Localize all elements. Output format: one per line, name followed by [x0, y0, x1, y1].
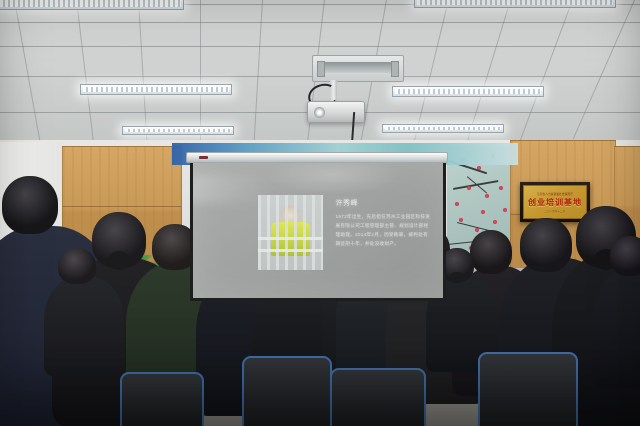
ceiling-grid-line-v [572, 0, 634, 139]
ceiling-grid-line-h [0, 46, 640, 47]
plaque-top-line: 江苏省人力资源和社会保障厅 [537, 192, 573, 196]
ceiling-air-conditioner [312, 55, 404, 82]
conference-room-photo: 江苏省人力资源和社会保障厅 创业培训基地 二〇一四年十二月 许秀峰 1972年出… [0, 0, 640, 426]
wall-plaque-frame: 江苏省人力资源和社会保障厅 创业培训基地 二〇一四年十二月 [520, 182, 590, 222]
ceiling-mounted-projector [307, 101, 365, 123]
mural-blossom [455, 202, 459, 206]
mural-blossom [477, 166, 481, 170]
audience-hair-bun [450, 272, 464, 284]
roller-label [199, 156, 208, 159]
audience-person-head [470, 230, 512, 274]
audience-chair-back[interactable] [120, 372, 204, 426]
mural-blossom [481, 210, 485, 214]
plaque-bottom-line: 二〇一四年十二月 [545, 209, 566, 213]
audience-person-head [58, 248, 96, 284]
ceiling-light-fixture [414, 0, 616, 8]
projection-screen: 许秀峰 1972年出生，先后担任苏州工业园区科技发展有限公司工程管理部主管、规划… [190, 160, 446, 301]
mural-blossom [485, 194, 489, 198]
screen-glare-secondary [263, 160, 401, 195]
mural-blossom [475, 228, 479, 232]
slide-inmate-photo [258, 195, 323, 269]
cell-rail-lower [258, 249, 323, 252]
mural-blossom [493, 220, 497, 224]
wall-plaque-face: 江苏省人力资源和社会保障厅 创业培训基地 二〇一四年十二月 [523, 185, 587, 219]
ceiling-light-fixture [80, 84, 232, 95]
audience-person-head [520, 218, 572, 272]
audience-person-head [2, 176, 58, 234]
cell-rail-upper [258, 237, 323, 240]
ceiling-light-fixture [392, 86, 544, 97]
audience-chair-back[interactable] [242, 356, 332, 426]
ceiling-light-fixture [0, 0, 184, 10]
audience-hair-bun [108, 251, 130, 269]
audience-chair-back[interactable] [330, 368, 426, 426]
plaque-main-text: 创业培训基地 [528, 197, 582, 208]
screen-roller-housing[interactable] [186, 152, 448, 163]
audience-person-head [610, 236, 640, 276]
ceiling-grid-line-h [0, 22, 640, 23]
slide-body-text: 1972年出生，先后担任苏州工业园区科技发展有限公司工程管理部主管、规划设计部经… [336, 212, 431, 249]
ceiling-light-fixture [382, 124, 504, 133]
slide-title: 许秀峰 [336, 198, 359, 208]
ceiling-light-fixture [122, 126, 234, 135]
mural-blossom [467, 186, 471, 190]
audience-person-body [44, 276, 124, 376]
audience-chair-back[interactable] [478, 352, 578, 426]
mural-blossom [459, 218, 463, 222]
projector-lens [314, 107, 325, 118]
mural-blossom [503, 208, 507, 212]
mural-blossom [499, 186, 503, 190]
cell-bars [258, 195, 323, 269]
